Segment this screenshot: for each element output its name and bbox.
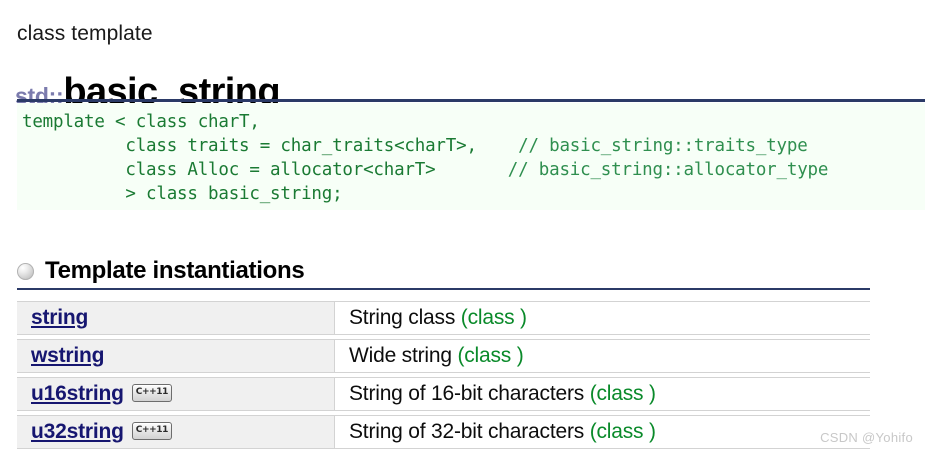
- instantiation-link-u32string[interactable]: u32string: [31, 420, 124, 443]
- code-signature-block: template < class charT, class traits = c…: [17, 103, 925, 210]
- code-signature-text: template < class charT, class traits = c…: [17, 103, 925, 206]
- description-text: String of 32-bit characters: [349, 420, 590, 443]
- table-cell-name: u32stringC++11: [17, 415, 334, 449]
- table-row: u32stringC++11 String of 32-bit characte…: [17, 415, 870, 449]
- table-cell-description: String class (class ): [334, 301, 870, 335]
- table-cell-description: String of 16-bit characters (class ): [334, 377, 870, 411]
- description-text: Wide string: [349, 344, 457, 367]
- instantiation-link-u16string[interactable]: u16string: [31, 382, 124, 405]
- code-line-2: class traits = char_traits<charT>,: [22, 136, 477, 156]
- description-kind: (class ): [457, 344, 523, 367]
- section-divider: [17, 288, 870, 290]
- description-kind: (class ): [590, 382, 656, 405]
- reference-page: class template std::basic_string templat…: [0, 0, 925, 452]
- cpp11-badge-icon: C++11: [132, 422, 172, 440]
- title-divider: [17, 99, 925, 102]
- table-cell-name: wstring: [17, 339, 334, 373]
- collapse-orb-icon[interactable]: [17, 263, 34, 280]
- instantiation-link-wstring[interactable]: wstring: [31, 344, 104, 367]
- code-line-1: template < class charT,: [22, 112, 260, 132]
- code-line-4: > class basic_string;: [22, 184, 342, 204]
- description-text: String of 16-bit characters: [349, 382, 590, 405]
- template-instantiations-table: string String class (class ) wstring Wid…: [17, 297, 870, 453]
- watermark: CSDN @Yohifo: [820, 430, 913, 445]
- code-line-3: class Alloc = allocator<charT>: [22, 160, 435, 180]
- table-cell-description: Wide string (class ): [334, 339, 870, 373]
- table-cell-name: string: [17, 301, 334, 335]
- table-cell-name: u16stringC++11: [17, 377, 334, 411]
- table-cell-description: String of 32-bit characters (class ): [334, 415, 870, 449]
- description-kind: (class ): [590, 420, 656, 443]
- table-row: u16stringC++11 String of 16-bit characte…: [17, 377, 870, 411]
- description-kind: (class ): [461, 306, 527, 329]
- code-line-3-comment: // basic_string::allocator_type: [435, 160, 828, 180]
- description-text: String class: [349, 306, 461, 329]
- section-header-template-instantiations[interactable]: Template instantiations: [17, 257, 304, 285]
- instantiation-link-string[interactable]: string: [31, 306, 88, 329]
- table-row: wstring Wide string (class ): [17, 339, 870, 373]
- code-line-2-comment: // basic_string::traits_type: [477, 136, 808, 156]
- cpp11-badge-icon: C++11: [132, 384, 172, 402]
- table-row: string String class (class ): [17, 301, 870, 335]
- section-title: Template instantiations: [45, 257, 304, 285]
- page-kicker: class template: [17, 22, 153, 46]
